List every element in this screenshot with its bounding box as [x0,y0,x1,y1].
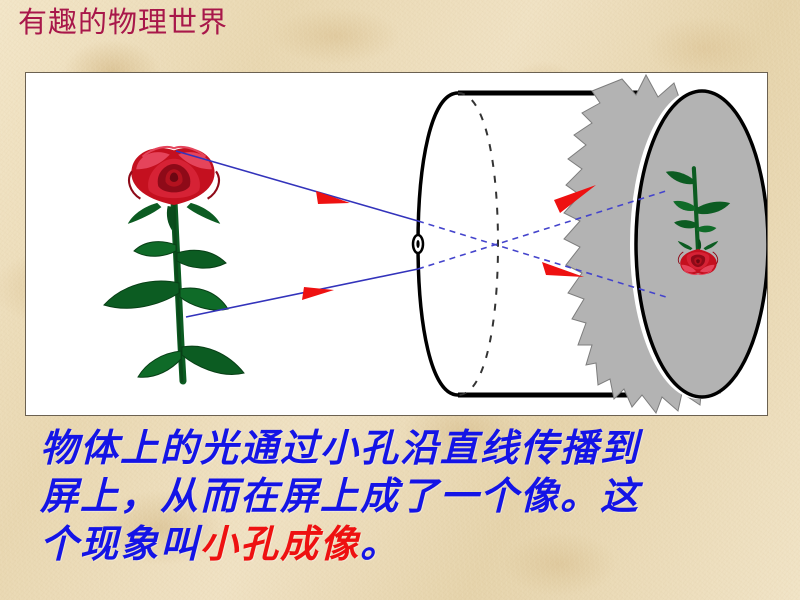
figure-frame [25,72,768,416]
pinhole-camera-diagram [26,73,767,415]
caption-block: 物体上的光通过小孔沿直线传播到 屏上，从而在屏上成了一个像。这 个现象叫小孔成像… [40,424,770,568]
ray-arrow-lower-outer [302,287,334,300]
pinhole [413,235,423,253]
caption-line-3-prefix: 个现象叫 [40,521,200,566]
page-title: 有趣的物理世界 [18,4,228,40]
ray-lower-solid [186,269,418,317]
rose-object [104,147,244,381]
caption-highlight-term: 小孔成像 [200,521,360,566]
caption-line-2: 屏上，从而在屏上成了一个像。这 [40,472,770,520]
caption-line-1: 物体上的光通过小孔沿直线传播到 [40,424,770,472]
ray-upper-solid [176,151,418,221]
caption-line-3-suffix: 。 [360,521,400,566]
caption-line-3: 个现象叫小孔成像。 [40,520,770,568]
ray-arrow-upper-outer [316,191,350,204]
